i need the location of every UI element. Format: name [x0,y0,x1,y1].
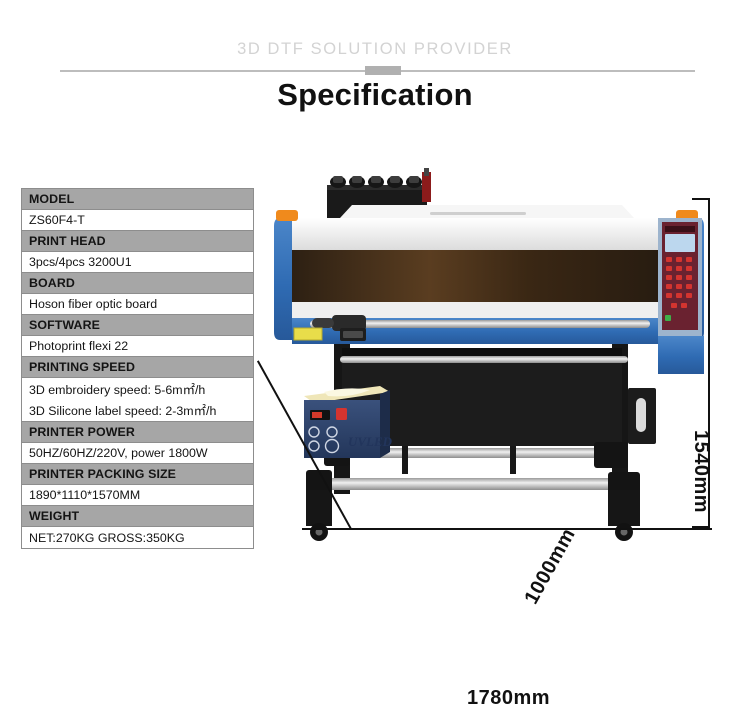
lcd-screen [665,234,695,252]
spec-row-header: PRINT HEAD [22,231,253,252]
spec-row-header: SOFTWARE [22,315,253,336]
spec-row-value-multiline: 3D embroidery speed: 5-6m㎡/h3D Silicone … [22,378,253,422]
page-header: 3D DTF SOLUTION PROVIDER Specification [0,0,750,150]
spec-row-value: 50HZ/60HZ/220V, power 1800W [22,443,253,464]
spec-header-label: PRINT HEAD [29,234,106,248]
spec-header-label: MODEL [29,192,74,206]
spec-value-label: 1890*1110*1570MM [29,488,140,502]
spec-header-label: PRINTER PACKING SIZE [29,467,176,481]
height-dimension-label: 1540mm [689,430,712,513]
spec-value-label: Photoprint flexi 22 [29,339,128,353]
spec-value-label: 3D Silicone label speed: 2-3m㎡/h [29,401,246,422]
spec-row-header: WEIGHT [22,506,253,527]
left-beacon-light [276,210,298,221]
page-title: Specification [0,77,750,113]
spec-row-header: BOARD [22,273,253,294]
spec-row-value: 3pcs/4pcs 3200U1 [22,252,253,273]
spec-row-value: NET:270KG GROSS:350KG [22,527,253,548]
height-dim-tick-top [692,198,710,200]
specification-table: MODELZS60F4-TPRINT HEAD3pcs/4pcs 3200U1B… [21,188,254,549]
width-dimension-label: 1780mm [467,687,550,710]
spec-row-header: PRINTER POWER [22,422,253,443]
spec-header-label: BOARD [29,276,75,290]
printer-main-body [274,205,704,344]
spec-value-label: 50HZ/60HZ/220V, power 1800W [29,446,208,460]
spec-value-label: 3D embroidery speed: 5-6m㎡/h [29,380,246,401]
spec-value-label: Hoson fiber optic board [29,297,157,311]
spec-header-label: WEIGHT [29,509,79,523]
header-divider-center-block [365,66,401,75]
spec-row-header: PRINTER PACKING SIZE [22,464,253,485]
spec-header-label: PRINTING SPEED [29,360,135,374]
spec-row-value: ZS60F4-T [22,210,253,231]
casters [310,523,633,541]
header-subtitle: 3D DTF SOLUTION PROVIDER [0,40,750,59]
spec-row-value: Hoson fiber optic board [22,294,253,315]
spec-header-label: PRINTER POWER [29,425,135,439]
spec-header-label: SOFTWARE [29,318,100,332]
spec-value-label: ZS60F4-T [29,213,85,227]
spec-value-label: 3pcs/4pcs 3200U1 [29,255,132,269]
spec-row-value: Photoprint flexi 22 [22,336,253,357]
control-panel [658,218,704,374]
spec-row-value: 1890*1110*1570MM [22,485,253,506]
spec-row-header: PRINTING SPEED [22,357,253,378]
uvled-label: UVLED [348,434,393,449]
printer-illustration: UVLED 1540mm 1780mm 1000mm [262,160,750,576]
spec-value-label: NET:270KG GROSS:350KG [29,531,185,545]
spec-row-header: MODEL [22,189,253,210]
printer-drawing: UVLED [262,160,750,576]
width-dimension-line [302,528,712,530]
